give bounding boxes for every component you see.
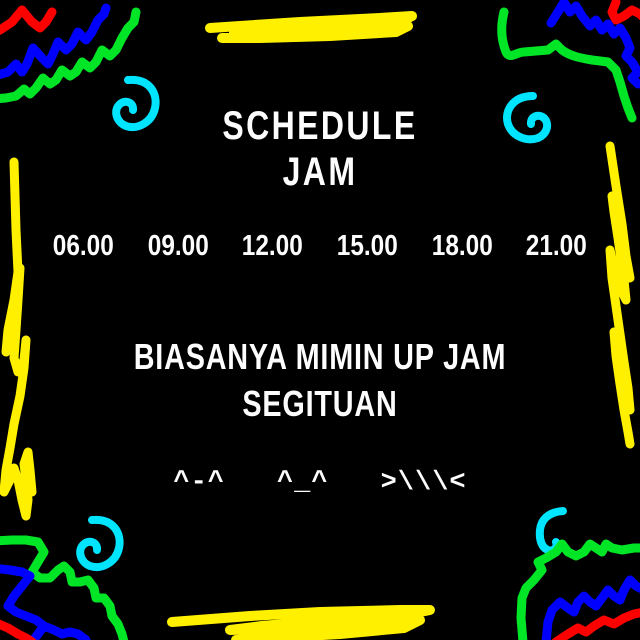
message-line-2: SEGITUAN xyxy=(64,383,576,425)
title-jam: JAM xyxy=(64,150,576,195)
schedule-time: 15.00 xyxy=(337,230,398,263)
schedule-time: 06.00 xyxy=(53,230,114,263)
text-layer: SCHEDULE JAM 06.00 09.00 12.00 15.00 18.… xyxy=(0,0,640,640)
message-line-1: BIASANYA MIMIN UP JAM xyxy=(64,336,576,378)
emoticon-shy-face: >\\\< xyxy=(381,468,467,498)
schedule-time: 09.00 xyxy=(148,230,209,263)
schedule-times-row: 06.00 09.00 12.00 15.00 18.00 21.00 xyxy=(0,230,640,263)
emoticon-happy-face: ^-^ xyxy=(173,468,225,498)
schedule-time: 12.00 xyxy=(242,230,303,263)
schedule-time: 18.00 xyxy=(431,230,492,263)
emoticon-row: ^-^ ^_^ >\\\< xyxy=(0,468,640,498)
emoticon-smiling-face: ^_^ xyxy=(277,468,329,498)
title-schedule: SCHEDULE xyxy=(64,104,576,149)
schedule-time: 21.00 xyxy=(526,230,587,263)
poster-canvas: SCHEDULE JAM 06.00 09.00 12.00 15.00 18.… xyxy=(0,0,640,640)
